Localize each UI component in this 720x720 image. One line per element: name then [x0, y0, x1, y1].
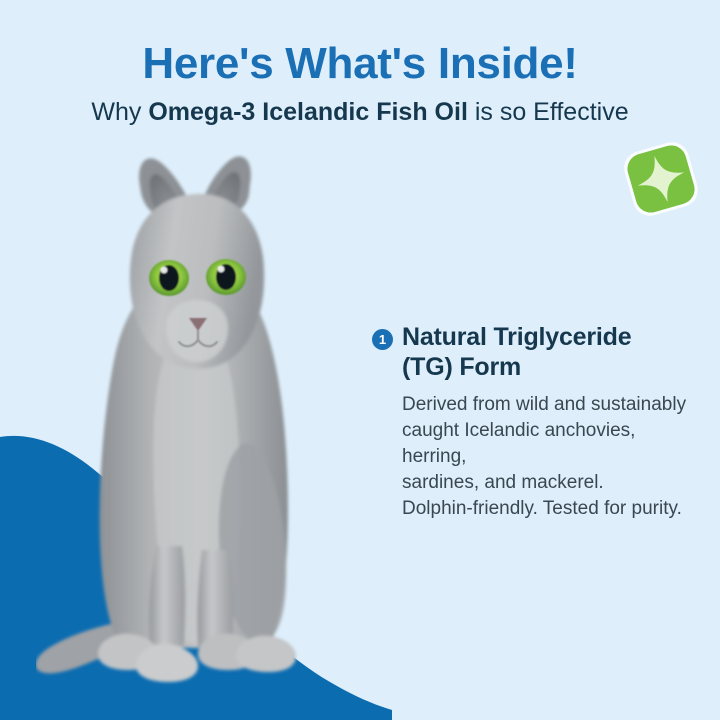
feature-title-line-1: Natural Triglyceride [402, 323, 631, 351]
page-title: Here's What's Inside! [0, 38, 720, 90]
feature-number-badge: 1 [372, 329, 393, 350]
feature-body-line: sardines, and mackerel. [402, 470, 690, 496]
subtitle-emphasis: Omega-3 Icelandic Fish Oil [148, 98, 468, 126]
infographic-canvas: Here's What's Inside! Why Omega-3 Icelan… [0, 0, 720, 720]
feature-body-line: caught Icelandic anchovies, herring, [402, 418, 690, 470]
feature-block: 1 Natural Triglyceride (TG) Form Derived… [372, 322, 690, 522]
subtitle-suffix: is so Effective [468, 98, 629, 126]
feature-body-line: Derived from wild and sustainably [402, 392, 690, 418]
feature-body: Derived from wild and sustainably caught… [402, 392, 690, 522]
cat-photo [36, 150, 366, 690]
feature-body-line: Dolphin-friendly. Tested for purity. [402, 496, 690, 522]
page-subtitle: Why Omega-3 Icelandic Fish Oil is so Eff… [0, 96, 720, 128]
subtitle-prefix: Why [91, 98, 148, 126]
feature-title: Natural Triglyceride (TG) Form [402, 322, 631, 382]
cat-front-leg-right [197, 550, 233, 648]
header-block: Here's What's Inside! Why Omega-3 Icelan… [0, 38, 720, 128]
cat-eye-highlight-left [161, 267, 168, 274]
cat-front-leg-left [149, 546, 185, 646]
sparkle-badge [620, 138, 702, 220]
cat-eye-highlight-right [218, 266, 225, 273]
feature-heading-row: 1 Natural Triglyceride (TG) Form [372, 322, 690, 382]
feature-title-line-2: (TG) Form [402, 353, 521, 381]
